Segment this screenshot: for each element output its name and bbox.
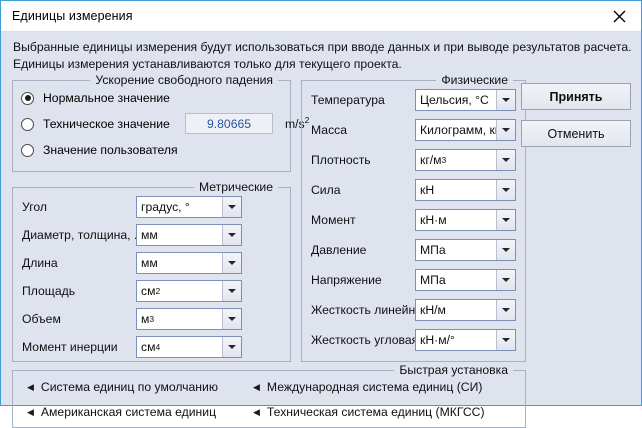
physical-row-angular-stiffness: Жесткость угловая — [311, 329, 418, 351]
metric-combo-angle[interactable]: градус, ° — [136, 196, 242, 218]
radio-normal-value[interactable]: Нормальное значение — [21, 89, 170, 107]
chevron-down-icon[interactable] — [496, 150, 515, 170]
physical-group-legend: Физические — [436, 73, 513, 87]
physical-combo-temperature-value: Цельсия, °C — [416, 90, 496, 110]
quick-item-si-system[interactable]: ◀ Международная система единиц (СИ) — [253, 380, 482, 394]
physical-label-mass: Масса — [311, 123, 347, 137]
chevron-down-icon[interactable] — [222, 337, 241, 357]
triangle-left-icon: ◀ — [253, 408, 260, 417]
window-title: Единицы измерения — [12, 9, 597, 23]
physical-label-linear-stiffness: Жесткость линейная — [311, 303, 429, 317]
chevron-down-icon[interactable] — [496, 330, 515, 350]
metric-label-angle: Угол — [22, 200, 47, 214]
intro-text: Выбранные единицы измерения будут исполь… — [13, 39, 633, 73]
physical-combo-pressure-value: МПа — [416, 240, 496, 260]
metric-label-area: Площадь — [22, 284, 75, 298]
metric-combo-angle-value: градус, ° — [137, 197, 222, 217]
physical-label-density: Плотность — [311, 153, 371, 167]
metric-row-inertia: Момент инерции — [22, 336, 118, 358]
physical-combo-stress[interactable]: МПа — [415, 269, 516, 291]
physical-label-temperature: Температура — [311, 93, 385, 107]
metric-combo-area[interactable]: см2 — [136, 280, 242, 302]
radio-technical-value[interactable]: Техническое значение — [21, 115, 170, 133]
physical-combo-mass[interactable]: Килограмм, кг — [415, 119, 516, 141]
metric-row-volume: Объем — [22, 308, 61, 330]
gravity-value-input[interactable]: 9.80665 — [185, 113, 273, 134]
triangle-left-icon: ◀ — [27, 383, 34, 392]
physical-group: Физические Температура Цельсия, °C Масса… — [301, 80, 526, 362]
quick-item-american-system[interactable]: ◀ Американская система единиц — [27, 405, 216, 419]
physical-combo-linear-stiffness-value: кН/м — [416, 300, 496, 320]
metric-row-length: Длина — [22, 252, 58, 274]
physical-label-pressure: Давление — [311, 243, 366, 257]
chevron-down-icon[interactable] — [222, 309, 241, 329]
physical-row-force: Сила — [311, 179, 341, 201]
quick-item-si-system-label: Международная система единиц (СИ) — [267, 380, 482, 394]
quick-item-default-system[interactable]: ◀ Система единиц по умолчанию — [27, 380, 218, 394]
metric-label-inertia: Момент инерции — [22, 340, 118, 354]
physical-row-stress: Напряжение — [311, 269, 382, 291]
triangle-left-icon: ◀ — [253, 383, 260, 392]
physical-label-stress: Напряжение — [311, 273, 382, 287]
chevron-down-icon[interactable] — [222, 281, 241, 301]
physical-combo-moment[interactable]: кН·м — [415, 209, 516, 231]
close-button[interactable] — [597, 1, 641, 31]
metric-combo-volume[interactable]: м3 — [136, 308, 242, 330]
physical-combo-moment-value: кН·м — [416, 210, 496, 230]
dialog-body: Выбранные единицы измерения будут исполь… — [1, 32, 641, 405]
accept-button[interactable]: Принять — [521, 83, 631, 110]
chevron-down-icon[interactable] — [496, 90, 515, 110]
physical-row-linear-stiffness: Жесткость линейная — [311, 299, 429, 321]
radio-user-value-indicator — [21, 144, 34, 157]
quick-item-default-system-label: Система единиц по умолчанию — [41, 380, 218, 394]
physical-row-temperature: Температура — [311, 89, 385, 111]
chevron-down-icon[interactable] — [496, 240, 515, 260]
physical-row-density: Плотность — [311, 149, 371, 171]
metric-row-area: Площадь — [22, 280, 75, 302]
close-icon — [613, 10, 626, 23]
quick-setup-group: Быстрая установка ◀ Система единиц по ум… — [12, 370, 526, 428]
quick-item-american-system-label: Американская система единиц — [41, 405, 216, 419]
quick-item-technical-system[interactable]: ◀ Техническая система единиц (МКГСС) — [253, 405, 485, 419]
intro-line-2: Единицы измерения устанавливаются только… — [13, 56, 633, 73]
physical-combo-pressure[interactable]: МПа — [415, 239, 516, 261]
chevron-down-icon[interactable] — [496, 210, 515, 230]
gravity-group-legend: Ускорение свободного падения — [90, 73, 278, 87]
metric-combo-length-value: мм — [137, 253, 222, 273]
radio-user-value[interactable]: Значение пользователя — [21, 141, 178, 159]
physical-row-pressure: Давление — [311, 239, 366, 261]
physical-combo-angular-stiffness-value: кН·м/° — [416, 330, 496, 350]
quick-item-technical-system-label: Техническая система единиц (МКГСС) — [267, 405, 485, 419]
physical-combo-force-value: кН — [416, 180, 496, 200]
radio-technical-value-label: Техническое значение — [43, 117, 170, 131]
metric-row-diameter: Диаметр, толщина, ... — [22, 224, 144, 246]
physical-combo-linear-stiffness[interactable]: кН/м — [415, 299, 516, 321]
metric-row-angle: Угол — [22, 196, 47, 218]
title-bar: Единицы измерения — [1, 1, 641, 32]
metric-group-legend: Метрические — [194, 180, 278, 194]
metric-combo-inertia[interactable]: см4 — [136, 336, 242, 358]
chevron-down-icon[interactable] — [496, 270, 515, 290]
radio-normal-value-indicator — [21, 92, 34, 105]
physical-combo-stress-value: МПа — [416, 270, 496, 290]
metric-label-diameter: Диаметр, толщина, ... — [22, 228, 144, 242]
metric-combo-length[interactable]: мм — [136, 252, 242, 274]
physical-label-force: Сила — [311, 183, 341, 197]
physical-label-moment: Момент — [311, 213, 356, 227]
metric-combo-diameter[interactable]: мм — [136, 224, 242, 246]
metric-label-volume: Объем — [22, 312, 61, 326]
physical-combo-density-value: кг/м3 — [416, 150, 496, 170]
metric-combo-area-value: см2 — [137, 281, 222, 301]
units-dialog: Единицы измерения Выбранные единицы изме… — [0, 0, 642, 406]
physical-combo-force[interactable]: кН — [415, 179, 516, 201]
quick-setup-legend: Быстрая установка — [394, 363, 513, 377]
intro-line-1: Выбранные единицы измерения будут исполь… — [13, 39, 633, 56]
metric-combo-inertia-value: см4 — [137, 337, 222, 357]
physical-label-angular-stiffness: Жесткость угловая — [311, 333, 418, 347]
metric-combo-diameter-value: мм — [137, 225, 222, 245]
chevron-down-icon[interactable] — [496, 120, 515, 140]
chevron-down-icon[interactable] — [222, 225, 241, 245]
physical-combo-angular-stiffness[interactable]: кН·м/° — [415, 329, 516, 351]
cancel-button[interactable]: Отменить — [521, 120, 631, 147]
radio-normal-value-label: Нормальное значение — [43, 91, 170, 105]
metric-label-length: Длина — [22, 256, 58, 270]
physical-row-moment: Момент — [311, 209, 356, 231]
metric-combo-volume-value: м3 — [137, 309, 222, 329]
physical-combo-mass-value: Килограмм, кг — [416, 120, 496, 140]
gravity-group: Ускорение свободного падения Нормальное … — [12, 80, 291, 172]
radio-technical-value-indicator — [21, 118, 34, 131]
chevron-down-icon[interactable] — [496, 300, 515, 320]
radio-user-value-label: Значение пользователя — [43, 143, 178, 157]
chevron-down-icon[interactable] — [222, 197, 241, 217]
physical-row-mass: Масса — [311, 119, 347, 141]
metric-group: Метрические Угол градус, ° Диаметр, толщ… — [12, 187, 291, 362]
chevron-down-icon[interactable] — [496, 180, 515, 200]
physical-combo-density[interactable]: кг/м3 — [415, 149, 516, 171]
triangle-left-icon: ◀ — [27, 408, 34, 417]
physical-combo-temperature[interactable]: Цельсия, °C — [415, 89, 516, 111]
chevron-down-icon[interactable] — [222, 253, 241, 273]
